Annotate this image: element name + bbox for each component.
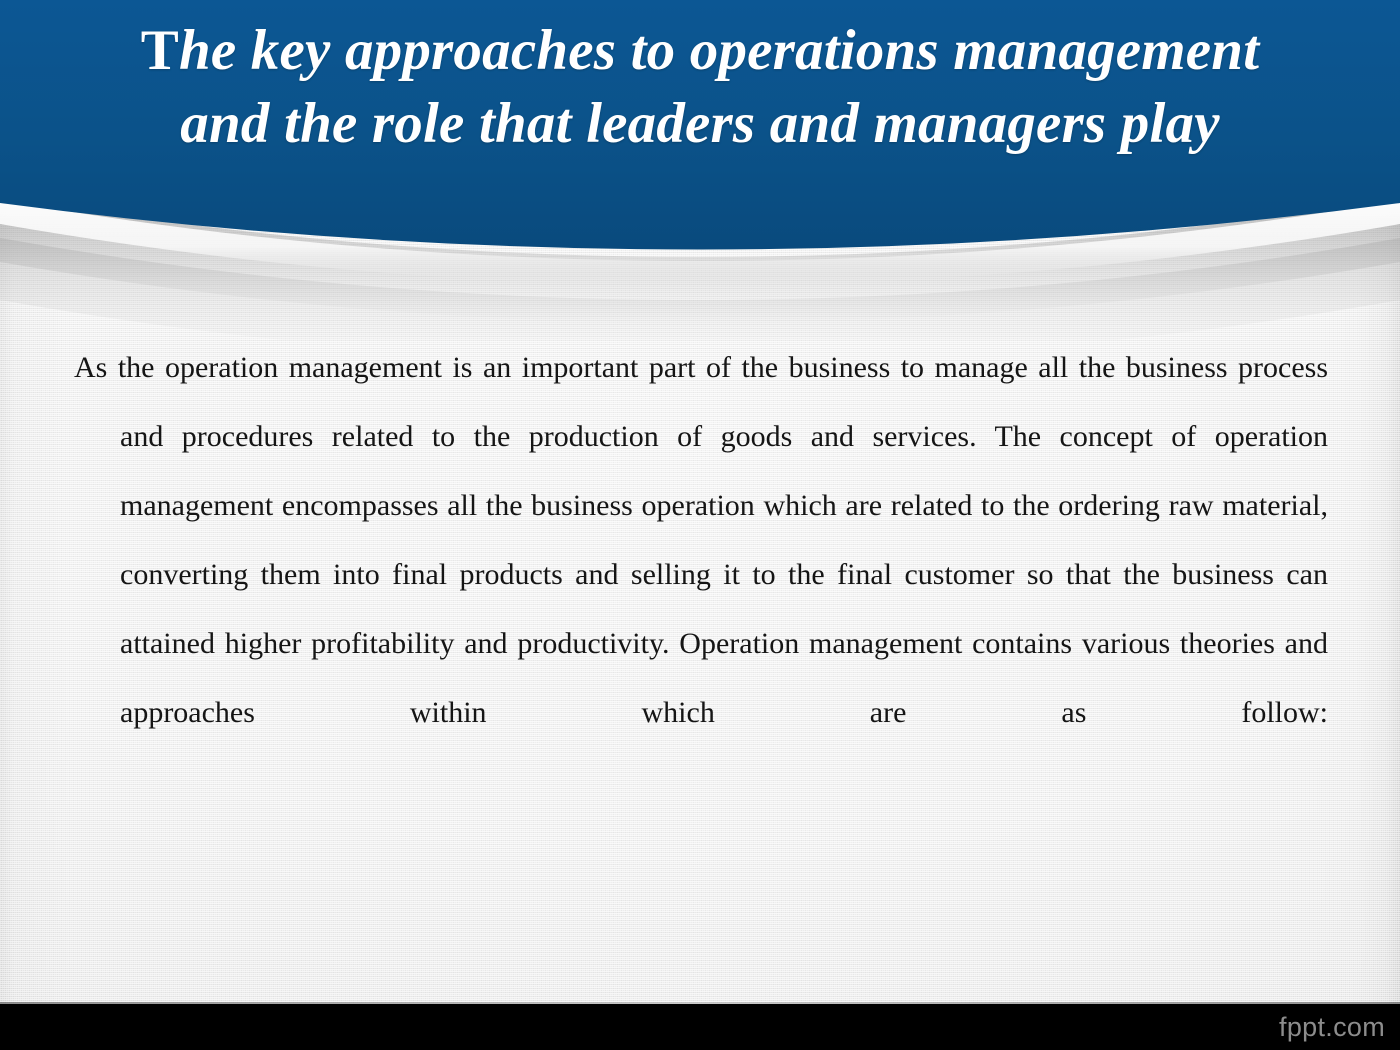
slide-title: The key approaches to operations managem… <box>90 14 1310 160</box>
footer-watermark: fppt.com <box>1279 1012 1385 1043</box>
presentation-slide: The key approaches to operations managem… <box>0 0 1400 1050</box>
slide-title-leading-cap: T <box>141 19 179 82</box>
footer-bar <box>0 1004 1400 1050</box>
slide-body: As the operation management is an import… <box>74 333 1328 816</box>
slide-title-rest: he key approaches to operations manageme… <box>179 19 1259 155</box>
body-paragraph: As the operation management is an import… <box>74 333 1328 816</box>
